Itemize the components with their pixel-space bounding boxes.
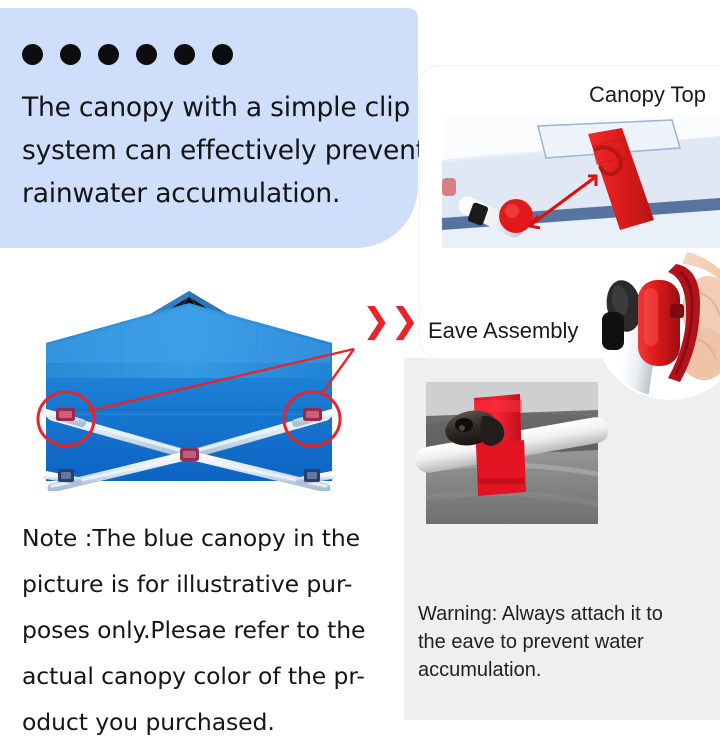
eave-assembly-label: Eave Assembly xyxy=(428,318,578,344)
warning-text: Warning: Always attach it to the eave to… xyxy=(418,600,708,684)
canopy-top-card: Canopy Top xyxy=(420,66,720,358)
infographic-page: The canopy with a simple clip system can… xyxy=(0,0,720,720)
eave-warning-card: Warning: Always attach it to the eave to… xyxy=(404,358,720,720)
note-line-1: Note :The blue canopy in the xyxy=(22,515,382,561)
bullet-dot-1 xyxy=(22,44,43,65)
headline-line-2: system can effectively prevent xyxy=(22,129,407,172)
note-line-4: actual canopy color of the pr- xyxy=(22,653,382,699)
clip-left xyxy=(56,408,75,421)
note-line-3: poses only.Plesae refer to the xyxy=(22,607,382,653)
warning-line-2: the eave to prevent water xyxy=(418,628,708,656)
note-text: Note :The blue canopy in the picture is … xyxy=(22,515,382,745)
dot-row xyxy=(22,44,233,65)
headline-text: The canopy with a simple clip system can… xyxy=(22,86,407,215)
pole-strap-illustration xyxy=(404,358,654,573)
headline-line-1: The canopy with a simple clip xyxy=(22,86,407,129)
warning-line-1: Warning: Always attach it to xyxy=(418,600,708,628)
bullet-dot-3 xyxy=(98,44,119,65)
note-line-5: oduct you purchased. xyxy=(22,699,382,745)
canopy-interior-photo xyxy=(22,283,356,491)
corner-bracket-right xyxy=(304,469,320,482)
canopy-interior-illustration xyxy=(22,283,356,491)
corner-bracket-left xyxy=(58,469,74,482)
bullet-dot-2 xyxy=(60,44,81,65)
note-line-2: picture is for illustrative pur- xyxy=(22,561,382,607)
headline-line-3: rainwater accumulation. xyxy=(22,172,407,215)
bullet-dot-5 xyxy=(174,44,195,65)
warning-line-3: accumulation. xyxy=(418,656,708,684)
header-panel: The canopy with a simple clip system can… xyxy=(0,8,418,248)
bullet-dot-4 xyxy=(136,44,157,65)
pole-strap-photo xyxy=(404,358,654,573)
bullet-dot-6 xyxy=(212,44,233,65)
double-chevron-icon: ❯❯ xyxy=(362,306,398,338)
right-column: Warning: Always attach it to the eave to… xyxy=(404,66,720,720)
clip-center xyxy=(180,448,199,461)
canopy-top-photo xyxy=(442,116,720,248)
clip-right xyxy=(303,408,322,421)
canopy-top-clip-illustration xyxy=(442,116,720,248)
canopy-top-label: Canopy Top xyxy=(589,82,706,108)
